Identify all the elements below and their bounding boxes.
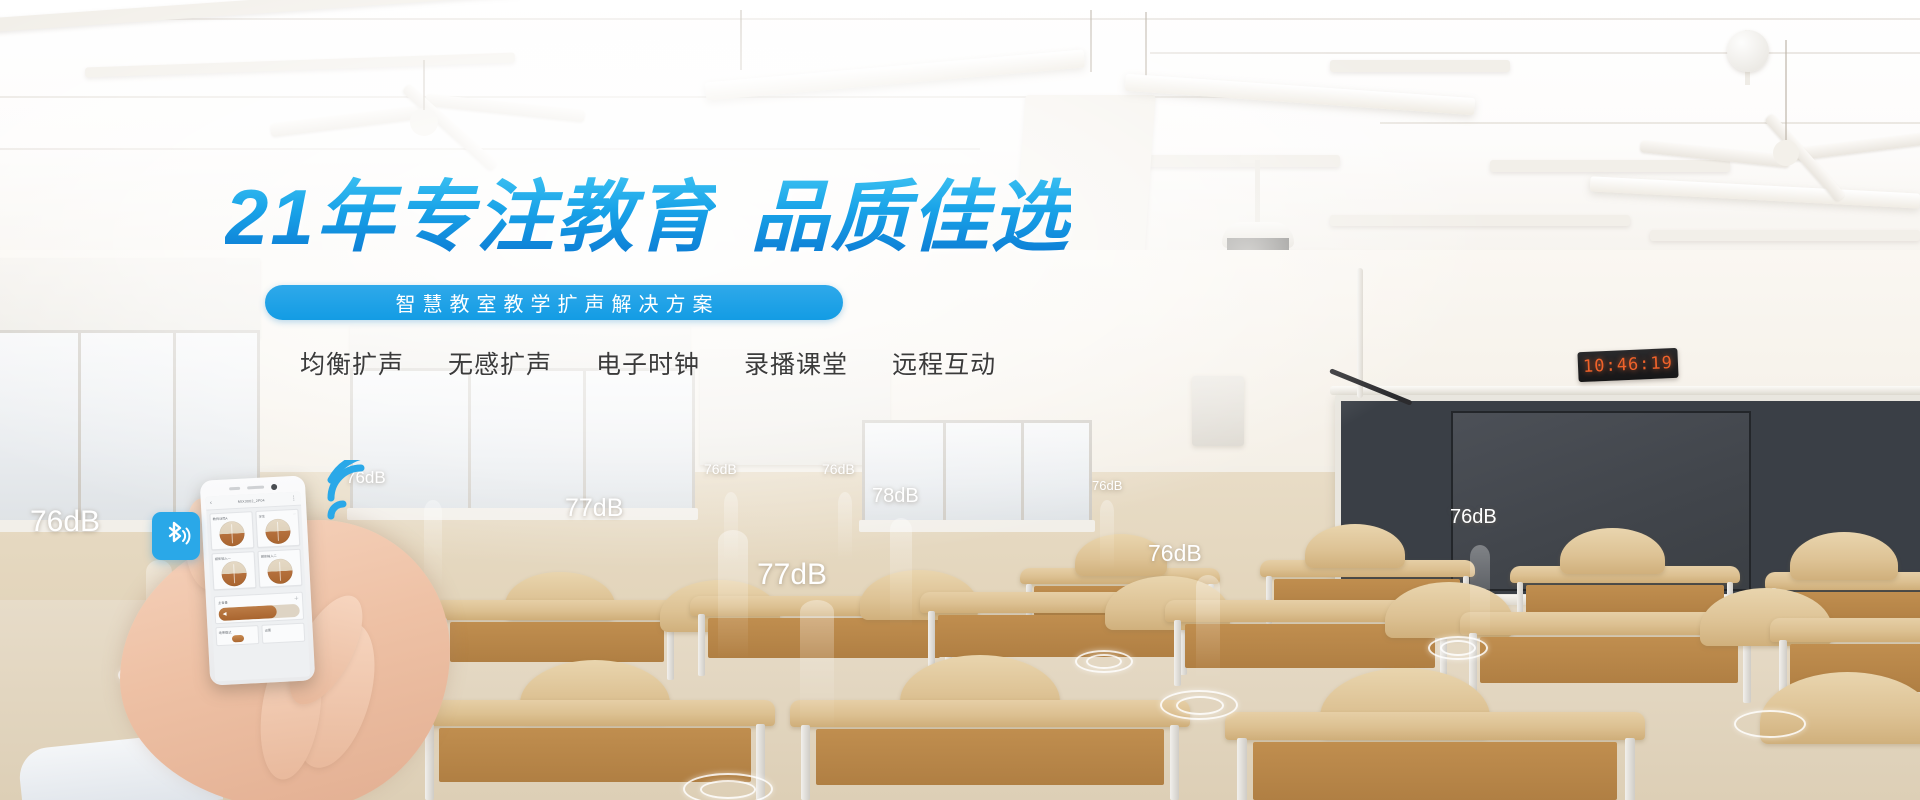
sound-ripple [1176,696,1224,715]
desk [790,700,1190,800]
wall-speaker [1192,376,1244,446]
lamp-wire [740,10,742,70]
db-label: 76dB [1092,478,1122,493]
chevron-left-icon[interactable]: ‹ [210,500,212,506]
db-label: 76dB [1148,540,1202,567]
subtitle-pill: 智慧教室教学扩声解决方案 [265,285,843,320]
channel-label: 学生 [259,514,266,519]
smartphone[interactable]: ‹ MIX3002_2F04 ⋮ 教师话筒A 学生◌ 媒体输入一 [200,475,316,685]
sound-ripple [1440,640,1476,656]
ceiling-trim [1330,215,1630,226]
ceiling-trim [1330,60,1510,72]
phone-body: ‹ MIX3002_2F04 ⋮ 教师话筒A 学生◌ 媒体输入一 [200,475,316,685]
db-label: 77dB [565,494,623,523]
scene-mode-card[interactable]: 场景模式 [215,625,259,646]
ceiling-fan-icon [1640,110,1920,220]
scene-toggle[interactable] [231,635,243,643]
plus-icon[interactable]: ＋ [294,595,299,602]
speaker-rod [1255,160,1260,228]
app-title: MIX3002_2F04 [238,498,265,503]
slider-fill [218,605,277,621]
master-volume-slider[interactable]: ◀ [218,604,300,621]
more-vertical-icon[interactable]: ⋮ [291,495,297,501]
window [862,420,1092,525]
channel-label: 教师话筒A [213,515,228,521]
ceiling-trim [1650,230,1920,241]
phone-speaker-slit [247,486,264,490]
db-label: 77dB [757,558,827,592]
mute-icon[interactable]: ◌ [293,512,295,517]
settings-card[interactable]: 设置 [261,623,305,644]
feature-list: 均衡扩声 无感扩声 电子时钟 录播课堂 远程互动 [300,345,996,381]
feature-item-3: 电子时钟 [596,345,700,381]
channel-card[interactable]: 教师话筒A [209,511,254,550]
channel-card[interactable]: 学生◌ [255,509,300,548]
ceiling-trim [1130,155,1340,167]
volume-knob[interactable] [221,561,247,587]
phone-sensor [229,487,240,491]
chair [1560,528,1665,574]
wifi-signal-icon [325,460,389,522]
db-label: 76dB [704,461,737,477]
ceiling-fan-icon [270,60,590,170]
feature-item-4: 录播课堂 [744,345,848,381]
channel-card-grid: 教师话筒A 学生◌ 媒体输入一 媒体输入二 [206,506,305,594]
banner-stage: 10:46:19 [0,0,1920,800]
chair [1790,532,1898,580]
window-blind [0,258,260,338]
subtitle-text: 智慧教室教学扩声解决方案 [389,288,720,317]
channel-card[interactable]: 媒体输入二 [257,549,302,588]
clock-time: 10:46:19 [1583,353,1674,377]
db-label: 76dB [30,505,100,539]
master-volume-card[interactable]: 主音量 ＋ ◀ [214,592,304,625]
db-label: 78dB [872,485,919,508]
scene-label: 场景模式 [219,628,256,635]
lamp-wire [1090,10,1092,72]
headline-right: 品质佳选 [751,173,1071,261]
window [350,368,695,513]
master-label: 主音量 [218,600,228,605]
sound-ripple [1086,654,1122,669]
volume-knob[interactable] [265,518,291,544]
slider-arrow-icon: ◀ [223,612,227,617]
headline-left: 21年专注教育 [225,173,716,261]
volume-knob[interactable] [267,558,293,584]
board-top-rail [1330,386,1920,395]
settings-label: 设置 [264,626,301,633]
wall-digital-clock: 10:46:19 [1577,348,1678,382]
chair [1305,524,1405,568]
feature-item-2: 无感扩声 [448,345,552,381]
db-label: 76dB [1450,506,1497,529]
phone-screen[interactable]: ‹ MIX3002_2F04 ⋮ 教师话筒A 学生◌ 媒体输入一 [206,492,311,682]
desk [1225,712,1645,800]
feature-item-1: 均衡扩声 [300,345,404,381]
volume-knob[interactable] [219,521,245,547]
bluetooth-icon [152,512,200,560]
bottom-card-row: 场景模式 设置 [215,623,305,647]
feature-item-5: 远程互动 [892,345,996,381]
channel-card[interactable]: 媒体输入一 [212,551,257,590]
page-title: 21年专注教育 品质佳选 [225,178,1071,256]
sound-ripple [1734,710,1806,738]
db-label: 76dB [822,461,855,477]
channel-label: 媒体输入一 [215,555,231,561]
phone-camera [270,483,276,489]
channel-label: 媒体输入二 [261,553,277,559]
sound-ripple [700,780,756,799]
sensor-dome [1727,30,1769,72]
